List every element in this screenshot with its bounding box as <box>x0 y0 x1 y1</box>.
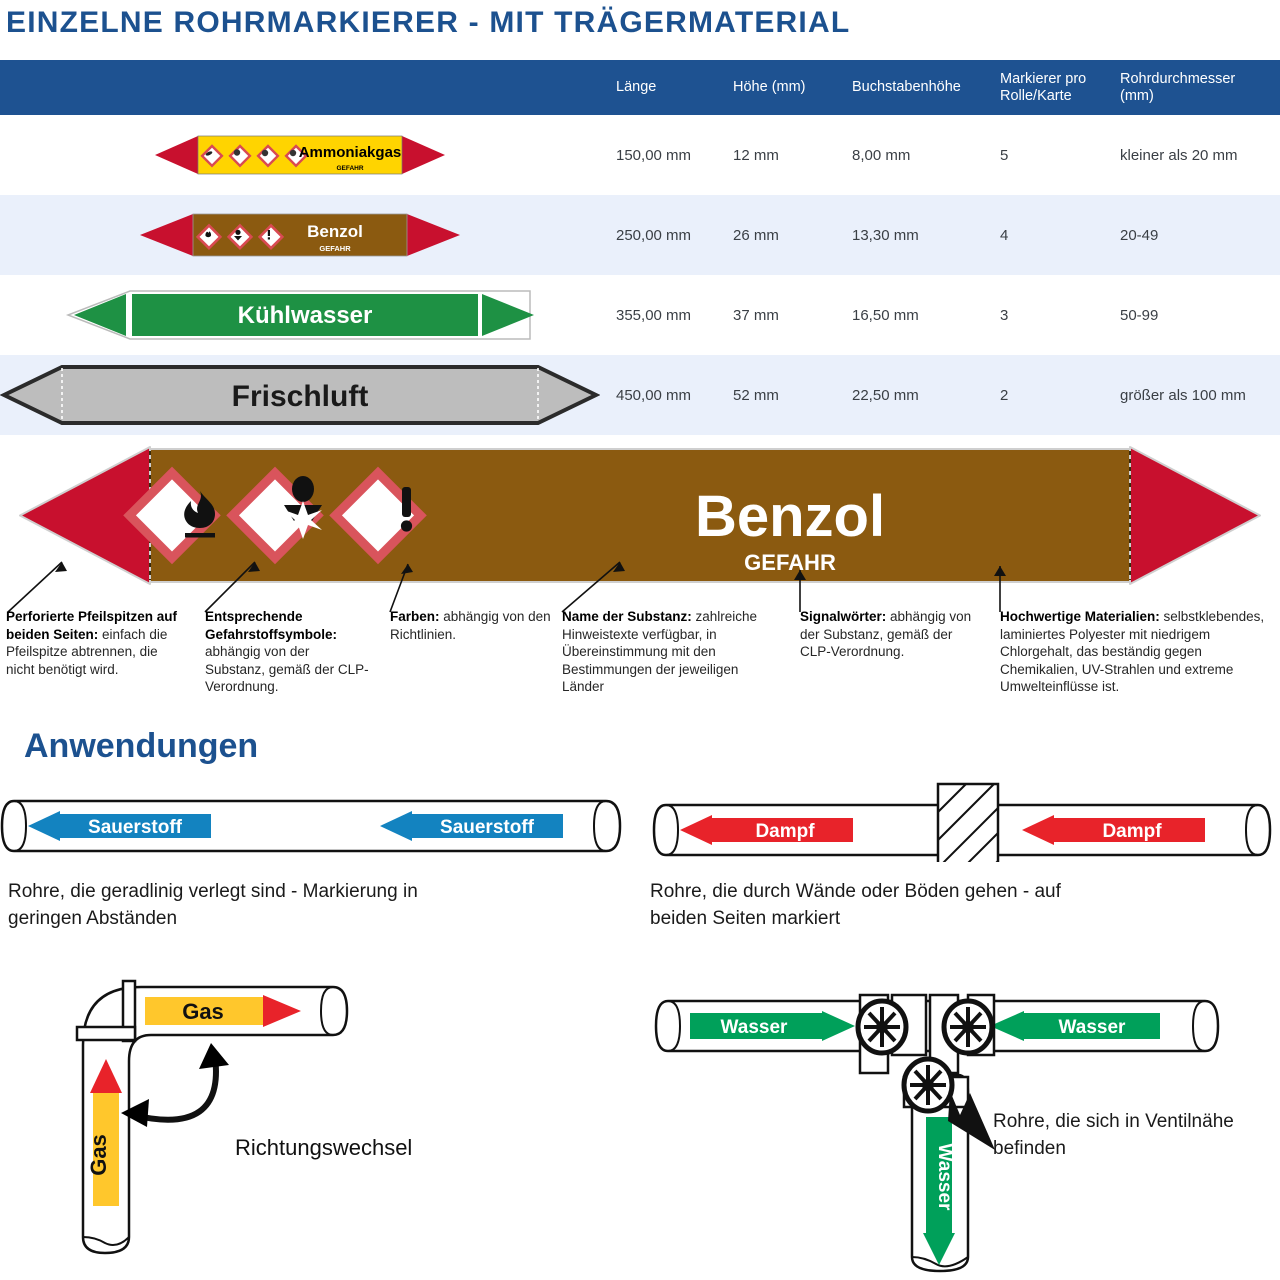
svg-text:Wasser: Wasser <box>721 1017 788 1038</box>
svg-text:GEFAHR: GEFAHR <box>319 244 351 253</box>
cell-markierer: 4 <box>1000 195 1060 275</box>
table-header-row: Länge Höhe (mm) Buchstabenhöhe Markierer… <box>0 60 1280 115</box>
direction-change-arrow <box>121 1043 229 1127</box>
svg-text:Wasser: Wasser <box>1059 1017 1126 1038</box>
cell-laenge: 150,00 mm <box>616 115 726 195</box>
callout-perforated-tips: Perforierte Pfeilspitzen auf beiden Seit… <box>6 608 186 678</box>
page-title: Einzelne Rohrmarkierer - mit Trägermater… <box>6 6 850 40</box>
svg-text:Gas: Gas <box>86 1134 111 1176</box>
cell-laenge: 355,00 mm <box>616 275 726 355</box>
svg-text:Sauerstoff: Sauerstoff <box>440 817 535 838</box>
caption-straight-pipe: Rohre, die geradlinig verlegt sind - Mar… <box>8 878 428 932</box>
svg-text:Benzol: Benzol <box>307 222 363 241</box>
marker-sauerstoff-left: Sauerstoff <box>28 811 211 841</box>
pipe-marker-kuehlwasser: Kühlwasser <box>0 275 600 355</box>
marker-wasser-left: Wasser <box>690 1011 855 1041</box>
svg-text:GEFAHR: GEFAHR <box>336 165 363 172</box>
cell-rohrdurchmesser: kleiner als 20 mm <box>1120 115 1280 195</box>
pipe-marker-benzol: Benzol GEFAHR <box>0 195 600 275</box>
caption-valve-pipe: Rohre, die sich in Ventilnähe befinden <box>993 1108 1280 1162</box>
marker-label-text: Ammoniakgas <box>299 144 402 161</box>
cell-rohrdurchmesser: 50-99 <box>1120 275 1280 355</box>
callout-substance-name: Name der Substanz: zahlreiche Hinweistex… <box>562 608 777 696</box>
th-buchstabenhoehe: Buchstabenhöhe <box>852 60 992 115</box>
marker-dampf-left: Dampf <box>680 815 853 845</box>
cell-hoehe: 52 mm <box>733 355 833 435</box>
svg-text:Sauerstoff: Sauerstoff <box>88 817 183 838</box>
cell-markierer: 3 <box>1000 275 1060 355</box>
th-markierer: Markierer pro Rolle/Karte <box>1000 60 1106 115</box>
pipe-marker-ammoniakgas: Ammoniakgas GEFAHR <box>0 115 600 195</box>
th-hoehe: Höhe (mm) <box>733 60 843 115</box>
svg-text:Dampf: Dampf <box>1102 821 1162 842</box>
svg-text:Frischluft: Frischluft <box>232 380 369 413</box>
svg-text:Kühlwasser: Kühlwasser <box>238 302 373 329</box>
caption-wall-pipe: Rohre, die durch Wände oder Böden gehen … <box>650 878 1120 932</box>
callout-title: Signalwörter: <box>800 609 890 624</box>
pipe-marker-frischluft: Frischluft <box>0 355 600 435</box>
table-row: Ammoniakgas GEFAHR 150,00 mm 12 mm 8,00 … <box>0 115 1280 195</box>
svg-text:Dampf: Dampf <box>755 821 815 842</box>
marker-sauerstoff-right: Sauerstoff <box>380 811 563 841</box>
applications-heading: Anwendungen <box>24 727 258 766</box>
cell-buchstabenhoehe: 16,50 mm <box>852 275 982 355</box>
table-row: Frischluft 450,00 mm 52 mm 22,50 mm 2 gr… <box>0 355 1280 435</box>
callout-title: Entsprechende Gefahrstoffsymbole: <box>205 609 337 642</box>
cell-buchstabenhoehe: 13,30 mm <box>852 195 982 275</box>
cell-hoehe: 37 mm <box>733 275 833 355</box>
table-row: Kühlwasser 355,00 mm 37 mm 16,50 mm 3 50… <box>0 275 1280 355</box>
th-rohrdurchmesser: Rohrdurchmesser (mm) <box>1120 60 1270 115</box>
svg-text:Gas: Gas <box>182 999 224 1024</box>
caption-elbow-pipe: Richtungswechsel <box>235 1135 412 1160</box>
th-laenge: Länge <box>616 60 716 115</box>
svg-text:Wasser: Wasser <box>934 1144 955 1211</box>
callout-title: Hochwertige Materialien: <box>1000 609 1164 624</box>
cell-rohrdurchmesser: größer als 100 mm <box>1120 355 1280 435</box>
cell-hoehe: 26 mm <box>733 195 833 275</box>
table-row: Benzol GEFAHR 250,00 mm 26 mm 13,30 mm 4… <box>0 195 1280 275</box>
cell-buchstabenhoehe: 8,00 mm <box>852 115 982 195</box>
marker-dampf-right: Dampf <box>1022 815 1205 845</box>
cell-laenge: 450,00 mm <box>616 355 726 435</box>
callout-signal-words: Signalwörter: abhängig von der Substanz,… <box>800 608 980 661</box>
callout-body: abhängig von der Substanz, gemäß der CLP… <box>205 644 369 694</box>
spec-table: Länge Höhe (mm) Buchstabenhöhe Markierer… <box>0 60 1280 435</box>
callout-title: Farben: <box>390 609 443 624</box>
wall-section <box>938 784 998 862</box>
cell-markierer: 5 <box>1000 115 1060 195</box>
marker-wasser-right: Wasser <box>990 1011 1160 1041</box>
callout-hazard-symbols: Entsprechende Gefahrstoffsymbole: abhäng… <box>205 608 370 696</box>
cell-markierer: 2 <box>1000 355 1060 435</box>
diagram-elbow-pipe: Gas Gas Richtungswechsel <box>55 965 415 1265</box>
banner-label: Benzol <box>695 484 885 549</box>
diagram-straight-pipe: Sauerstoff Sauerstoff <box>0 795 625 857</box>
callout-colors: Farben: abhängig von den Richtlinien. <box>390 608 555 643</box>
cell-hoehe: 12 mm <box>733 115 833 195</box>
callout-materials: Hochwertige Materialien: selbstklebendes… <box>1000 608 1275 696</box>
callout-title: Name der Substanz: <box>562 609 696 624</box>
cell-laenge: 250,00 mm <box>616 195 726 275</box>
cell-buchstabenhoehe: 22,50 mm <box>852 355 982 435</box>
cell-rohrdurchmesser: 20-49 <box>1120 195 1280 275</box>
diagram-wall-pipe: Dampf Dampf <box>650 782 1280 862</box>
